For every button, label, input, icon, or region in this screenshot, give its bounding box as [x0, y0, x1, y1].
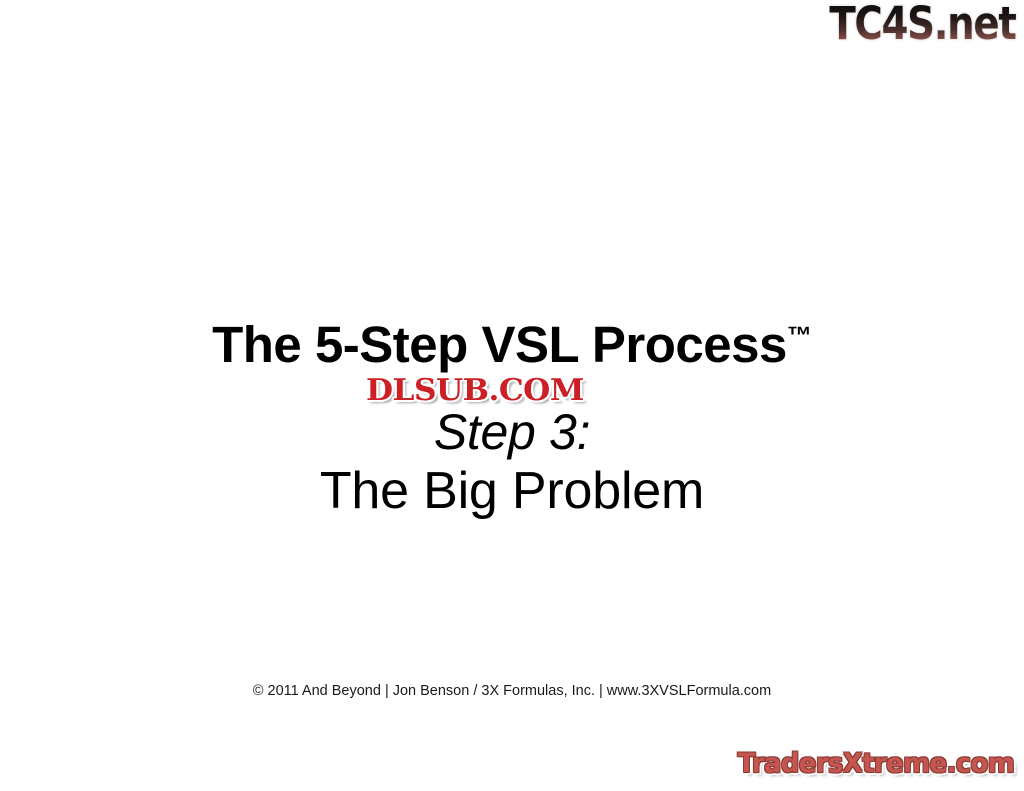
watermark-dlsub-com: DLSUB.COM: [366, 374, 584, 408]
watermark-tc4s-net: TC4S.net: [830, 0, 1016, 48]
presentation-slide: TC4S.net The 5-Step VSL Process™ DLSUB.C…: [0, 0, 1024, 791]
footer-separator-1: |: [381, 683, 393, 699]
watermark-tradersxtreme-com: TradersXtreme.com: [737, 748, 1014, 780]
step-label: Step 3:: [0, 404, 1024, 461]
page-title-text: The 5-Step VSL Process: [212, 316, 787, 373]
footer-author: Jon Benson / 3X Formulas, Inc.: [393, 683, 595, 699]
footer-separator-2: |: [595, 683, 607, 699]
trademark-symbol: ™: [787, 322, 812, 350]
footer-website: www.3XVSLFormula.com: [607, 683, 771, 699]
slide-subtitle: Step 3: The Big Problem: [0, 404, 1024, 521]
step-name: The Big Problem: [0, 461, 1024, 521]
page-title: The 5-Step VSL Process™: [0, 310, 1024, 371]
footer-credit: © 2011 And Beyond|Jon Benson / 3X Formul…: [0, 682, 1024, 700]
footer-copyright: © 2011 And Beyond: [253, 683, 381, 699]
